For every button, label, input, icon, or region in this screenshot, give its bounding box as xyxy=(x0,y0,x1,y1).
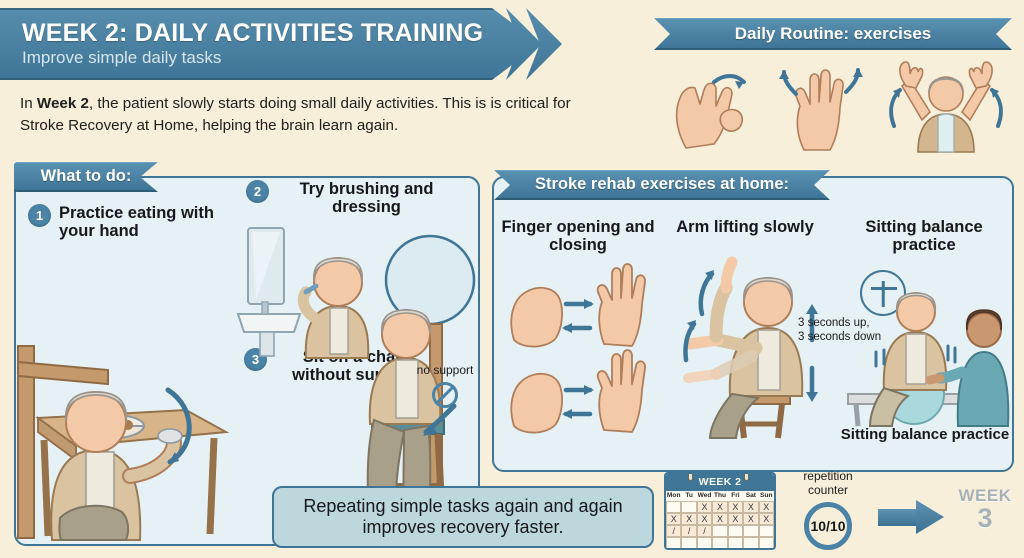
calendar-grid: XXXXXXXXXXXX/// xyxy=(666,501,774,549)
summary-callout: Repeating simple tasks again and again i… xyxy=(272,486,654,548)
motion-arrow-icon xyxy=(853,68,863,77)
calendar-day-header: Sun xyxy=(759,491,774,501)
calendar-row xyxy=(666,537,774,549)
calendar-rings xyxy=(666,472,774,479)
page-title: WEEK 2: DAILY ACTIVITIES TRAINING xyxy=(22,20,540,46)
calendar-cell xyxy=(712,537,727,549)
calendar-cell: / xyxy=(666,525,681,537)
step-number-badge: 2 xyxy=(246,180,269,203)
page-subtitle: Improve simple daily tasks xyxy=(22,49,540,68)
pinch-hand-illustration xyxy=(656,60,766,152)
daily-routine-label: Daily Routine: exercises xyxy=(735,24,932,44)
finger-open-close-illustration xyxy=(498,258,666,434)
next-week-arrow-icon xyxy=(878,500,944,534)
repetition-counter: repetition counter 10/10 xyxy=(780,470,876,550)
calendar-cell xyxy=(681,501,696,513)
calendar-cell: X xyxy=(728,513,743,525)
counter-label-line-2: counter xyxy=(780,484,876,498)
daily-routine-illustrations xyxy=(650,56,1018,152)
exercise-column-title-arm: Arm lifting slowly xyxy=(664,218,826,236)
eating-practice-illustration xyxy=(18,250,238,540)
calendar-cell: X xyxy=(743,513,758,525)
calendar-cell: X xyxy=(743,501,758,513)
calendar-day-header: Thu xyxy=(712,491,727,501)
calendar-cell: / xyxy=(697,525,712,537)
calendar-cell xyxy=(697,537,712,549)
calendar-cell: X xyxy=(728,501,743,513)
intro-lead: In xyxy=(20,95,37,112)
spoon-icon xyxy=(158,429,182,443)
calendar-cell xyxy=(728,537,743,549)
repetition-counter-value: 10/10 xyxy=(804,502,852,550)
calendar-day-header: Fri xyxy=(728,491,743,501)
open-hand-illustration xyxy=(766,60,876,152)
week-calendar: WEEK 2 MonTuWedThuFriSatSun XXXXXXXXXXXX… xyxy=(664,472,776,550)
step-label: Try brushing and dressing xyxy=(277,180,456,217)
calendar-day-header: Mon xyxy=(666,491,681,501)
calendar-row: XXXXXXX xyxy=(666,513,774,525)
calendar-cell xyxy=(759,525,774,537)
arms-raised-woman-illustration xyxy=(876,56,1016,152)
daily-routine-ribbon: Daily Routine: exercises xyxy=(654,18,1012,50)
sitting-balance-caption: Sitting balance practice xyxy=(830,426,1020,443)
calendar-cell xyxy=(681,537,696,549)
motion-arrow-icon xyxy=(566,304,590,414)
no-support-label: no support xyxy=(417,363,474,377)
calendar-cell xyxy=(666,501,681,513)
next-week-label: WEEK 3 xyxy=(950,486,1020,532)
repetition-counter-label: repetition counter xyxy=(780,470,876,498)
calendar-cell: X xyxy=(712,501,727,513)
step-item-1: 1 Practice eating with your hand xyxy=(28,204,218,241)
calendar-day-header: Sat xyxy=(743,491,758,501)
counter-label-line-1: repetition xyxy=(780,470,876,484)
motion-arrow-icon xyxy=(735,81,744,89)
what-to-do-label: What to do: xyxy=(41,167,132,186)
exercise-column-title-finger: Finger opening and closing xyxy=(500,218,656,255)
rehab-exercises-label: Stroke rehab exercises at home: xyxy=(535,175,789,194)
motion-arrow-icon xyxy=(714,76,744,82)
step-label: Practice eating with your hand xyxy=(59,204,218,241)
calendar-cell: X xyxy=(697,501,712,513)
calendar-cell: X xyxy=(666,513,681,525)
sitting-balance-illustration xyxy=(848,280,1016,428)
calendar-cell xyxy=(743,525,758,537)
intro-paragraph: In Week 2, the patient slowly starts doi… xyxy=(20,93,585,136)
intro-bold: Week 2 xyxy=(37,95,89,112)
calendar-cell xyxy=(743,537,758,549)
calendar-day-header: Wed xyxy=(697,491,712,501)
calendar-cell: X xyxy=(759,501,774,513)
next-week-number: 3 xyxy=(950,506,1020,532)
no-support-arrow-icon xyxy=(416,400,460,444)
calendar-cell xyxy=(759,537,774,549)
exercise-column-title-balance: Sitting balance practice xyxy=(840,218,1008,255)
calendar-cell: X xyxy=(759,513,774,525)
calendar-cell xyxy=(712,525,727,537)
header-banner: WEEK 2: DAILY ACTIVITIES TRAINING Improv… xyxy=(0,8,540,80)
what-to-do-tag: What to do: xyxy=(14,162,158,192)
calendar-day-header: Tu xyxy=(681,491,696,501)
step-number-badge: 1 xyxy=(28,204,51,227)
calendar-row: XXXXX xyxy=(666,501,774,513)
calendar-cell: X xyxy=(681,513,696,525)
infographic-canvas: WEEK 2: DAILY ACTIVITIES TRAINING Improv… xyxy=(0,0,1024,558)
calendar-cell xyxy=(666,537,681,549)
motion-arrow-icon xyxy=(562,299,594,419)
calendar-row: /// xyxy=(666,525,774,537)
calendar-cell: X xyxy=(697,513,712,525)
step-item-2: 2 Try brushing and dressing xyxy=(246,180,456,217)
summary-text: Repeating simple tasks again and again i… xyxy=(286,496,640,538)
motion-arrow-icon xyxy=(779,70,789,79)
calendar-cell xyxy=(728,525,743,537)
calendar-cell: X xyxy=(712,513,727,525)
calendar-day-headers: MonTuWedThuFriSatSun xyxy=(666,491,774,501)
calendar-cell: / xyxy=(681,525,696,537)
rehab-exercises-tag: Stroke rehab exercises at home: xyxy=(494,170,830,200)
intro-rest: , the patient slowly starts doing small … xyxy=(20,95,571,134)
